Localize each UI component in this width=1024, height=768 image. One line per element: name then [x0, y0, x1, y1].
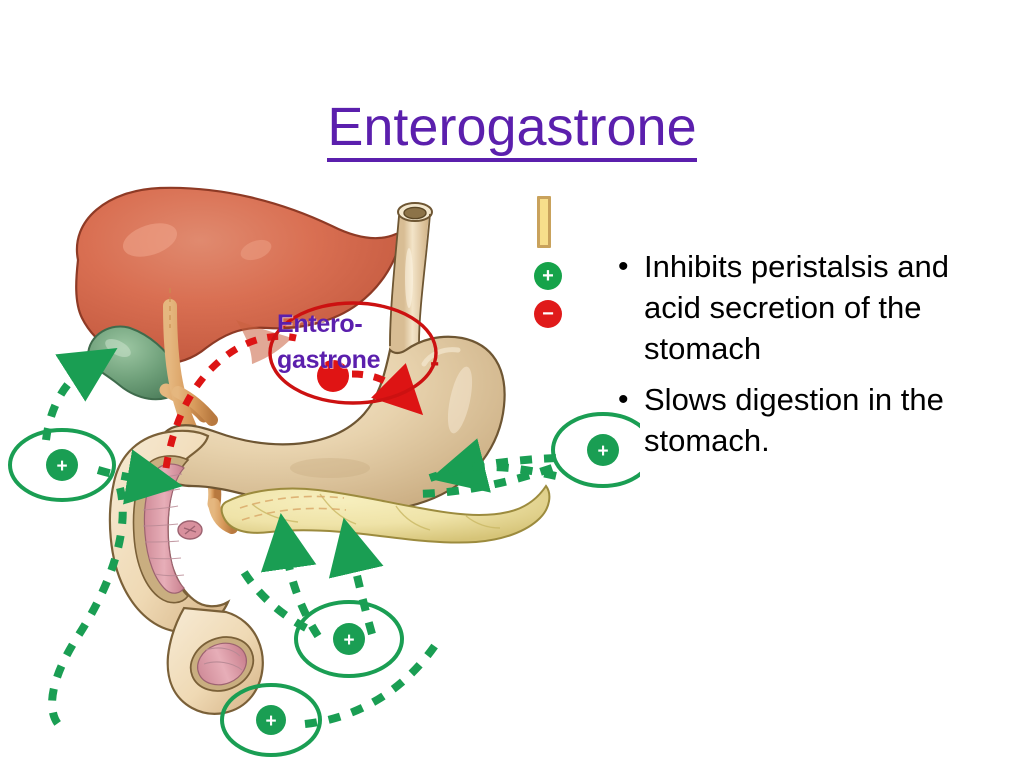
- plus-node-bottom-left-symbol: +: [265, 711, 276, 732]
- page-title: Enterogastrone: [0, 96, 1024, 158]
- legend: + −: [534, 196, 580, 328]
- bullet-list: • Inhibits peristalsis and acid secretio…: [612, 246, 1012, 471]
- bullet-marker: •: [612, 379, 644, 420]
- list-item: • Inhibits peristalsis and acid secretio…: [612, 246, 1012, 369]
- slide-canvas: Enterogastrone: [0, 0, 1024, 768]
- plus-node-left-symbol: +: [56, 456, 67, 477]
- legend-minus-icon: −: [534, 300, 562, 328]
- bullet-marker: •: [612, 246, 644, 287]
- plus-node-right-symbol: +: [597, 441, 608, 462]
- plus-node-bottom-mid[interactable]: +: [296, 602, 402, 676]
- legend-plus-icon: +: [534, 262, 562, 290]
- legend-plus-symbol: +: [534, 262, 562, 290]
- list-item: • Slows digestion in the stomach.: [612, 379, 1012, 461]
- page-title-text: Enterogastrone: [327, 97, 696, 162]
- legend-minus-symbol: −: [534, 300, 562, 328]
- bullet-text: Slows digestion in the stomach.: [644, 379, 1012, 461]
- legend-bar-icon: [537, 196, 551, 248]
- hormone-label-minus-sign: -: [430, 348, 439, 376]
- bullet-text: Inhibits peristalsis and acid secretion …: [644, 246, 1012, 369]
- plus-node-bottom-mid-symbol: +: [343, 630, 354, 651]
- plus-node-left[interactable]: +: [10, 430, 114, 500]
